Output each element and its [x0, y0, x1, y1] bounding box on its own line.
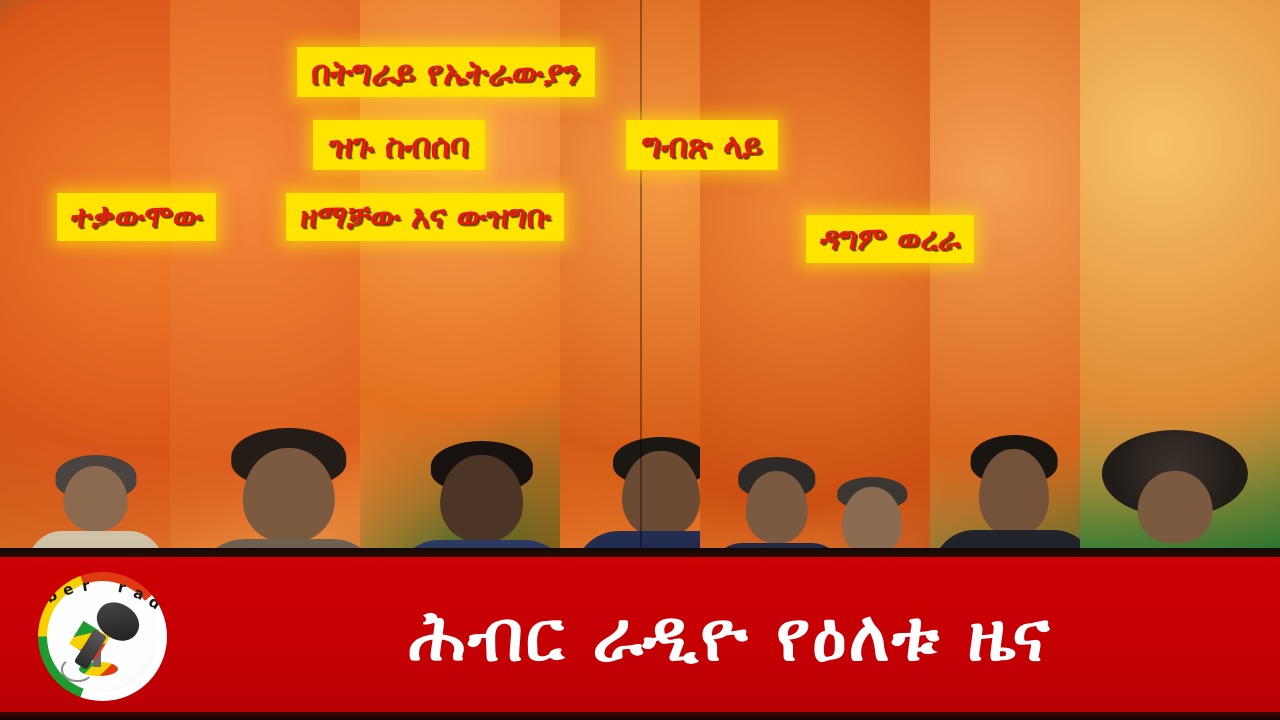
banner-top-divider [0, 548, 1280, 557]
logo-brand-letter: i [38, 599, 44, 616]
caption-line-1: በትግራይ የኤትራውያን [297, 47, 595, 97]
caption-line-3: ግብጽ ላይ [626, 120, 778, 170]
caption-line-5: ዘማቻው እና ውዝግቡ [286, 193, 564, 241]
caption-line-4: ተቃውሞው [57, 193, 216, 241]
logo-brand-letter: r [80, 576, 90, 595]
logo-brand-letter: a [130, 583, 146, 603]
thumbnail-canvas: በትግራይ የኤትራውያን ዝጉ ስብሰባ ግብጽ ላይ ተቃውሞው ዘማቻው … [0, 0, 1280, 720]
banner-title: ሕብር ራዲዮ የዕለቱ ዜና [205, 572, 1255, 700]
logo-brand-letter: e [60, 579, 76, 599]
banner-bottom-divider [0, 712, 1280, 720]
logo-brand-text: Hiber radio [38, 572, 167, 701]
logo-brand-letter: b [42, 585, 60, 606]
logo-brand-letter: i [161, 604, 167, 621]
logo-brand-letter: d [145, 592, 164, 613]
hiber-radio-logo: Hiber radio [38, 572, 167, 701]
caption-line-6: ዳግም ወረራ [806, 215, 974, 263]
logo-brand-letter: r [116, 577, 127, 596]
caption-line-2: ዝጉ ስብሰባ [313, 120, 485, 170]
